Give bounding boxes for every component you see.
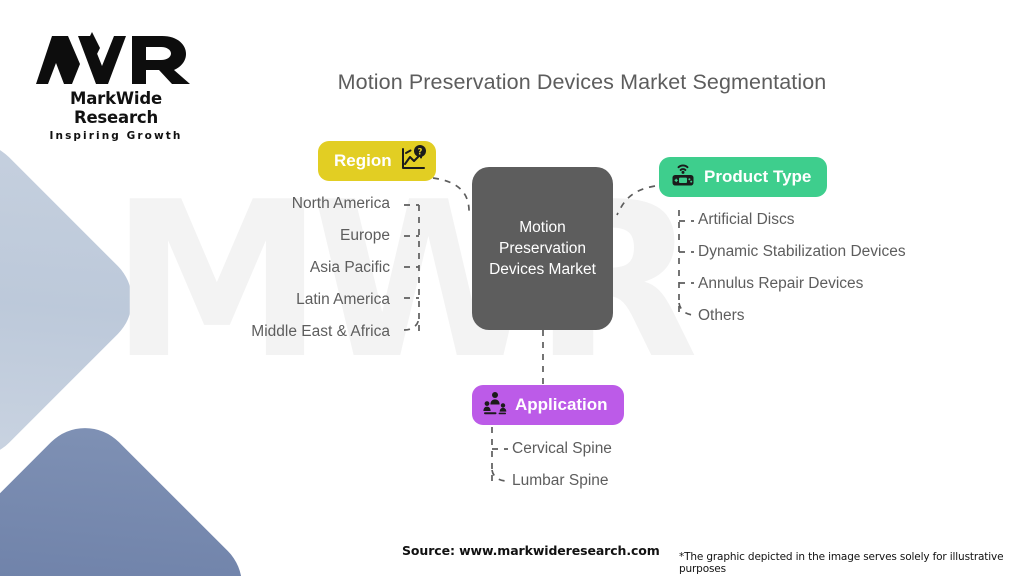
branch-label-application: Application [515,395,608,415]
list-item: Dynamic Stabilization Devices [698,244,906,260]
branch-badge-application[interactable]: Application [472,385,624,425]
list-item: Asia Pacific [0,260,390,276]
branch-badge-region[interactable]: Region ? [318,141,436,181]
list-item: Artificial Discs [698,212,906,228]
device-signal-icon [669,161,697,194]
leaf-list-product-type: Artificial Discs Dynamic Stabilization D… [698,212,906,340]
leaf-list-application: Cervical Spine Lumbar Spine [512,441,612,505]
list-item: Others [698,308,906,324]
leaf-list-region: North America Europe Asia Pacific Latin … [0,196,390,356]
list-item: Latin America [0,292,390,308]
list-item: Cervical Spine [512,441,612,457]
branch-badge-product-type[interactable]: Product Type [659,157,827,197]
center-node: Motion Preservation Devices Market [472,167,613,330]
list-item: Europe [0,228,390,244]
disclaimer-label: *The graphic depicted in the image serve… [679,551,1024,575]
source-label: Source: www.markwideresearch.com [402,543,660,558]
list-item: Lumbar Spine [512,473,612,489]
decorative-shape-dark [0,408,262,576]
list-item: North America [0,196,390,212]
list-item: Annulus Repair Devices [698,276,906,292]
branch-label-region: Region [334,151,392,171]
list-item: Middle East & Africa [0,324,390,340]
chart-question-icon: ? [399,145,427,178]
people-group-icon [482,390,508,421]
branch-label-product-type: Product Type [704,167,811,187]
logo-tagline: Inspiring Growth [28,130,204,142]
infographic-canvas: MWR MarkWide Research Inspiring Growth M… [0,0,1024,576]
svg-text:?: ? [417,147,422,157]
page-title: Motion Preservation Devices Market Segme… [0,70,1024,95]
